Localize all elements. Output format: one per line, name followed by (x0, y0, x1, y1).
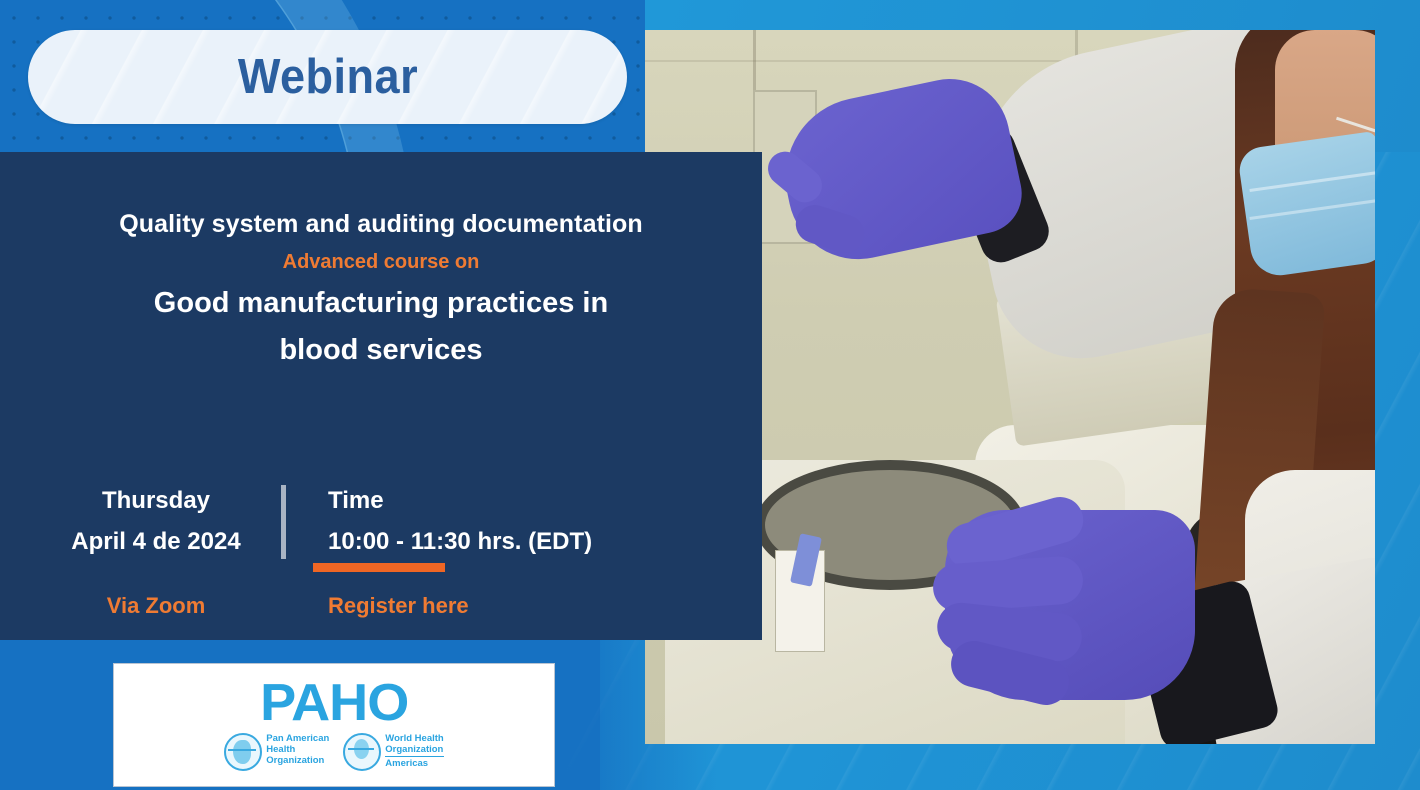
who-full-name: World Health Organization (385, 733, 443, 755)
time-heading: Time (328, 480, 728, 521)
paho-full-name: Pan American Health Organization (266, 733, 329, 767)
paho-wordmark: PAHO (260, 679, 408, 728)
headline-line-2: Good manufacturing practices in (0, 280, 762, 327)
who-region-label: Americas (385, 756, 443, 769)
headline-kicker: Advanced course on (0, 251, 762, 274)
register-link[interactable]: Register here (328, 593, 728, 619)
headline-line-1: Quality system and auditing documentatio… (0, 210, 762, 239)
paho-logo: PAHO Pan American Health Organization Wo… (113, 663, 555, 787)
day-label: Thursday (42, 480, 270, 521)
who-text-block: World Health Organization Americas (385, 733, 443, 769)
logo-emblem-row: Pan American Health Organization World H… (224, 733, 443, 771)
paho-globe-icon (224, 733, 262, 771)
webinar-badge-label: Webinar (237, 49, 417, 105)
content-panel: Quality system and auditing documentatio… (0, 152, 762, 640)
paho-emblem: Pan American Health Organization (224, 733, 329, 771)
time-value: 10:00 - 11:30 hrs. (EDT) (328, 521, 728, 562)
event-details: Thursday April 4 de 2024 Via Zoom Time 1… (0, 480, 762, 640)
date-column: Thursday April 4 de 2024 Via Zoom (42, 480, 270, 619)
time-column: Time 10:00 - 11:30 hrs. (EDT) Register h… (328, 480, 728, 619)
column-divider (281, 485, 286, 559)
who-globe-icon (343, 733, 381, 771)
webinar-badge: Webinar (28, 30, 627, 124)
headline-line-3: blood services (0, 327, 762, 374)
webinar-poster: Webinar (0, 0, 1420, 790)
who-emblem: World Health Organization Americas (343, 733, 443, 771)
platform-link[interactable]: Via Zoom (42, 593, 270, 619)
date-label: April 4 de 2024 (42, 521, 270, 562)
